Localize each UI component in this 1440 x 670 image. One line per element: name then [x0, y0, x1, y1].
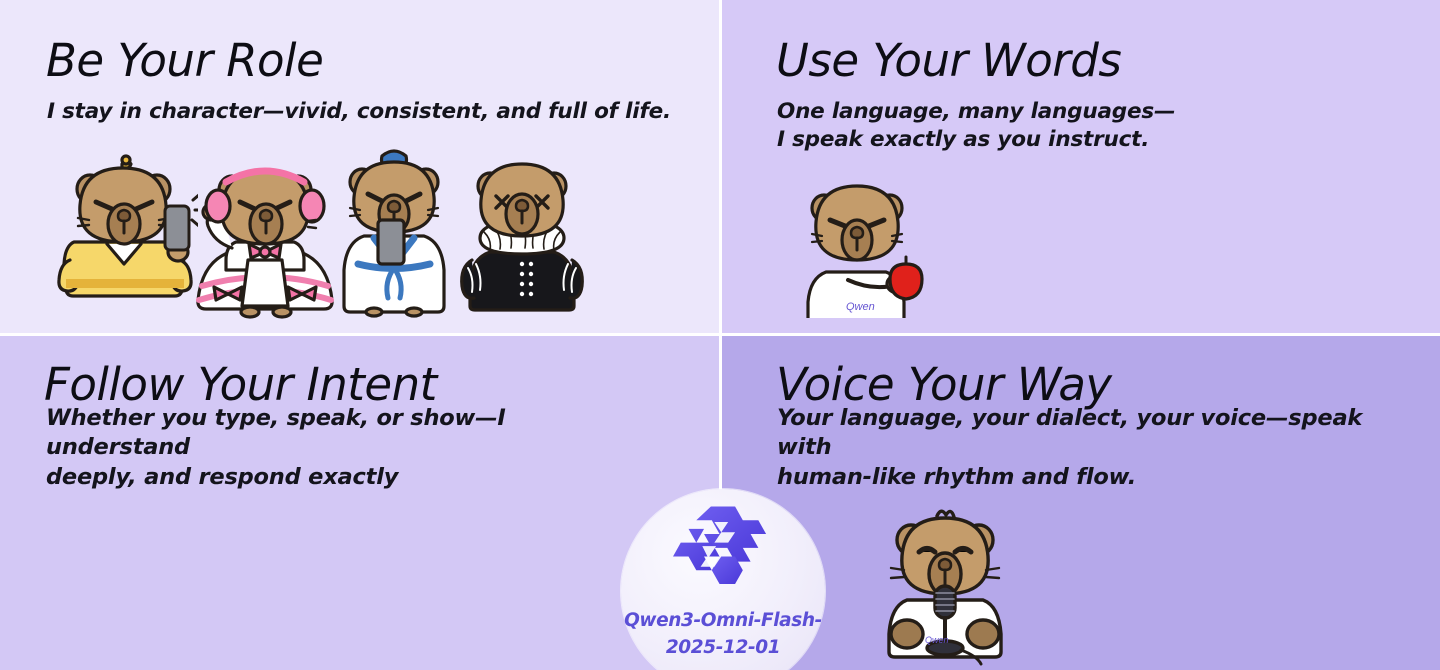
panel-voice-subtitle: Your language, your dialect, your voice—…	[777, 404, 1387, 492]
model-name-label: Qwen3-Omni-Flash- 2025-12-01	[624, 608, 822, 662]
panel-words-subtitle: One language, many languages— I speak ex…	[777, 98, 1175, 154]
svg-text:Qwen: Qwen	[846, 301, 875, 313]
panel-voice-subtitle-line1: Your language, your dialect, your voice—…	[777, 405, 1362, 460]
panel-voice-subtitle-line2: human-like rhythm and flow.	[777, 464, 1136, 490]
panel-words-title: Use Your Words	[776, 34, 1121, 87]
lolita-bear-with-headphones	[190, 148, 340, 320]
panel-words-subtitle-line2: I speak exactly as you instruct.	[777, 127, 1149, 152]
qwen-logo-icon	[671, 503, 775, 608]
panel-role-title: Be Your Role	[46, 34, 323, 87]
ruff-collar-bear	[458, 148, 586, 312]
model-name-line1: Qwen3-Omni-Flash-	[624, 608, 822, 635]
microphone-bear: Qwen	[875, 496, 1015, 666]
apple-bear: Qwen	[798, 172, 934, 318]
panel-follow-your-intent: Follow Your Intent Whether you type, spe…	[0, 333, 719, 670]
panel-intent-subtitle-line2: deeply, and respond exactly	[46, 464, 398, 490]
panel-be-your-role: Be Your Role I stay in character—vivid, …	[0, 0, 719, 333]
panel-use-your-words: Use Your Words One language, many langua…	[719, 0, 1440, 333]
hanbok-bear-with-tablet	[332, 142, 456, 318]
emperor-bear-with-phone	[52, 148, 198, 314]
svg-text:Qwen: Qwen	[925, 635, 949, 645]
panel-role-subtitle: I stay in character—vivid, consistent, a…	[47, 98, 671, 126]
panel-intent-subtitle-line1: Whether you type, speak, or show—I under…	[46, 405, 506, 460]
panel-intent-subtitle: Whether you type, speak, or show—I under…	[46, 404, 606, 492]
poster-root: Be Your Role I stay in character—vivid, …	[0, 0, 1440, 670]
model-name-line2: 2025-12-01	[624, 635, 822, 662]
panel-voice-your-way: Voice Your Way Your language, your diale…	[719, 333, 1440, 670]
panel-words-subtitle-line1: One language, many languages—	[777, 99, 1175, 124]
